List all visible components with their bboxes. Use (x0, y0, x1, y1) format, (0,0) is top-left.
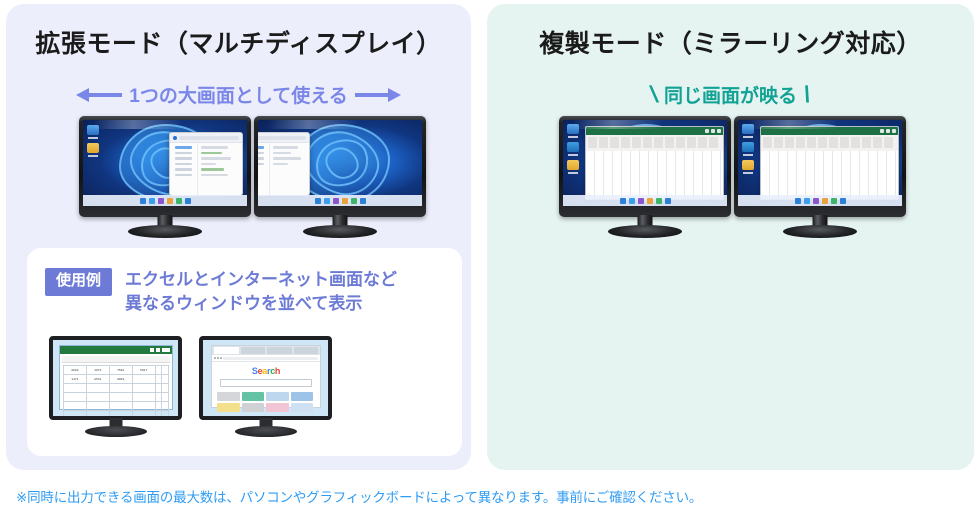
taskbar-right (258, 195, 422, 206)
slash-right-icon: / (801, 81, 814, 108)
usecase-row-extended: 使用例 エクセルとインターネット画面など 異なるウィンドウを並べて表示 (45, 268, 397, 316)
spreadsheet-window: 0002107475405487 147185410003 (59, 345, 173, 410)
desktop-icons (742, 124, 754, 178)
browser-tiles (212, 390, 320, 414)
footnote-text: ※同時に出力できる画面の最大数は、パソコンやグラフィックボードによって異なります… (16, 486, 702, 506)
infographic-stage: 拡張モード（マルチディスプレイ） 1つの大画面として使える (0, 0, 980, 520)
monitor-extended-left (79, 116, 251, 238)
table-row: 0002107475405487 (64, 366, 169, 375)
usecase-card-extended: 使用例 エクセルとインターネット画面など 異なるウィンドウを並べて表示 0002… (27, 248, 462, 456)
taskbar-mirror-left (563, 195, 727, 206)
excel-window (760, 126, 899, 200)
subline-extended-text: 1つの大画面として使える (129, 81, 347, 108)
monitor-browser: Search (199, 336, 332, 438)
monitor-spreadsheet: 0002107475405487 147185410003 (49, 336, 182, 438)
panel-extended-mode: 拡張モード（マルチディスプレイ） 1つの大画面として使える (6, 4, 471, 470)
table-row (64, 384, 169, 393)
desktop-icons (87, 125, 99, 161)
monitor-mirror-right (734, 116, 906, 238)
panel-title-mirrored: 複製モード（ミラーリング対応） (487, 24, 974, 60)
table-row: 147185410003 (64, 375, 169, 384)
panel-mirrored-mode: 複製モード（ミラーリング対応） \ 同じ画面が映る / (487, 4, 974, 470)
subline-extended: 1つの大画面として使える (6, 81, 471, 108)
file-explorer-window (169, 132, 243, 196)
file-explorer-window-continued (258, 132, 310, 196)
table-row (64, 402, 169, 411)
arrow-left-icon (76, 88, 122, 102)
usecase-badge-extended: 使用例 (45, 268, 112, 296)
screen-windows11-right (258, 120, 422, 206)
monitor-extended-right (254, 116, 426, 238)
browser-window: Search (211, 345, 321, 408)
monitor-mirror-left (559, 116, 731, 238)
screen-excel-mirror-right (738, 120, 902, 206)
spreadsheet-table: 0002107475405487 147185410003 (63, 365, 169, 420)
desktop-icons (567, 124, 579, 178)
taskbar-mirror-right (738, 195, 902, 206)
search-box[interactable] (220, 379, 312, 387)
subline-mirrored: \ 同じ画面が映る / (487, 81, 974, 108)
arrow-right-icon (355, 88, 401, 102)
subline-mirrored-text: 同じ画面が映る (664, 81, 797, 108)
taskbar-left (83, 195, 247, 206)
slash-left-icon: \ (647, 81, 660, 108)
excel-window (585, 126, 724, 200)
search-logo: Search (212, 366, 320, 376)
table-row (64, 393, 169, 402)
usecase-text-extended: エクセルとインターネット画面など 異なるウィンドウを並べて表示 (125, 268, 397, 316)
screen-excel-mirror-left (563, 120, 727, 206)
screen-windows11-left (83, 120, 247, 206)
panel-title-extended: 拡張モード（マルチディスプレイ） (6, 24, 471, 60)
